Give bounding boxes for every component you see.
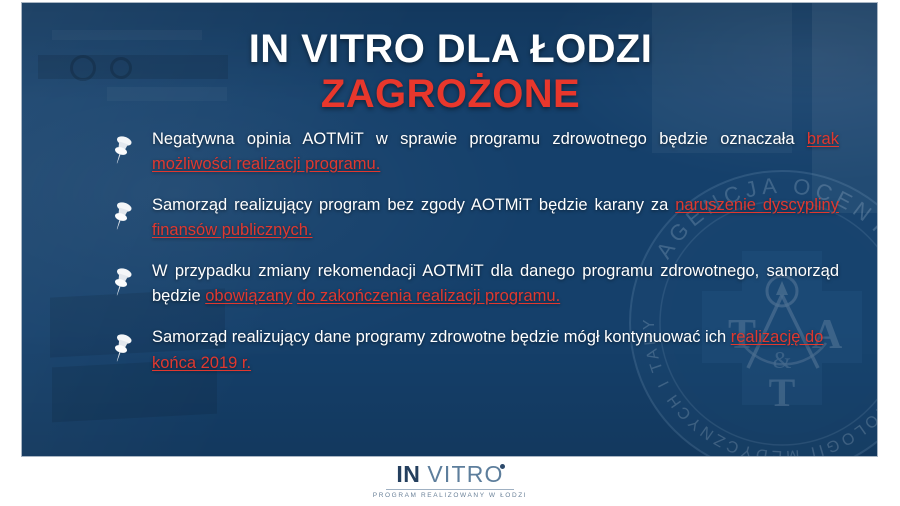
list-item-text: Samorząd realizujący dane programy zdrow… [152,325,839,375]
logo-tagline: PROGRAM REALIZOWANY W ŁODZI [373,492,527,499]
logo-dot-accent [500,464,505,469]
list-item-text: W przypadku zmiany rekomendacji AOTMiT d… [152,259,839,309]
list-item: W przypadku zmiany rekomendacji AOTMiT d… [22,259,878,309]
presentation-slide: T A & T AGENCJA OCENY TECHNOLOGII MEDYCZ… [0,0,900,506]
pushpin-icon [108,135,134,167]
slide-blue-panel: T A & T AGENCJA OCENY TECHNOLOGII MEDYCZ… [21,2,878,457]
bullet-plain-text: Samorząd realizujący program bez zgody A… [152,196,675,214]
bullet-highlight-text: obowiązany [205,287,292,305]
in-vitro-logo: IN VITRO [396,463,503,486]
list-item: Negatywna opinia AOTMiT w sprawie progra… [22,127,878,177]
list-item: Samorząd realizujący dane programy zdrow… [22,325,878,375]
bullet-plain-text: Negatywna opinia AOTMiT w sprawie progra… [152,130,807,148]
logo-vitro-text: VITRO [427,461,503,487]
footer-logo-area: IN VITRO PROGRAM REALIZOWANY W ŁODZI [0,458,900,506]
pushpin-icon [108,267,134,299]
logo-divider [386,489,514,490]
list-item-text: Samorząd realizujący program bez zgody A… [152,193,839,243]
bullet-plain-text: Samorząd realizujący dane programy zdrow… [152,328,731,346]
list-item-text: Negatywna opinia AOTMiT w sprawie progra… [152,127,839,177]
logo-word-in: IN [396,463,420,486]
pushpin-icon [108,333,134,365]
slide-title: IN VITRO DLA ŁODZI ZAGROŻONE [22,29,878,115]
bullet-list: Negatywna opinia AOTMiT w sprawie progra… [22,127,878,392]
logo-word-vitro: VITRO [427,463,503,486]
pushpin-icon [108,201,134,233]
title-line-primary: IN VITRO DLA ŁODZI [22,29,878,69]
title-line-accent: ZAGROŻONE [22,73,878,115]
bullet-highlight-text-2: do zakończenia realizacji programu. [297,287,560,305]
list-item: Samorząd realizujący program bez zgody A… [22,193,878,243]
